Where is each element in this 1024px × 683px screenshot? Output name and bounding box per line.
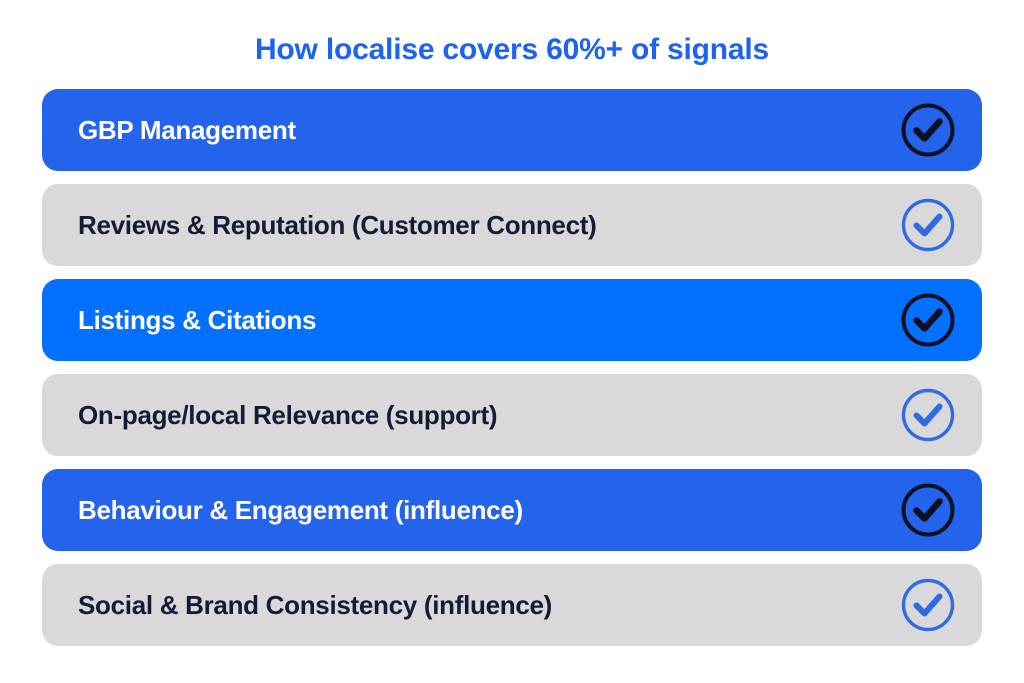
check-circle-icon (900, 197, 956, 253)
list-item-label: Reviews & Reputation (Customer Connect) (78, 212, 596, 238)
check-circle-icon (900, 387, 956, 443)
list-item[interactable]: GBP Management (42, 89, 982, 171)
list-item-label: Social & Brand Consistency (influence) (78, 592, 552, 618)
check-circle-icon (900, 102, 956, 158)
page-title: How localise covers 60%+ of signals (0, 0, 1024, 67)
infographic-page: How localise covers 60%+ of signals GBP … (0, 0, 1024, 683)
list-item[interactable]: Reviews & Reputation (Customer Connect) (42, 184, 982, 266)
list-item[interactable]: Social & Brand Consistency (influence) (42, 564, 982, 646)
list-item-label: Listings & Citations (78, 307, 316, 333)
check-circle-icon (900, 482, 956, 538)
check-circle-icon (900, 577, 956, 633)
list-item-label: GBP Management (78, 117, 296, 143)
list-item[interactable]: Listings & Citations (42, 279, 982, 361)
signal-coverage-checklist: GBP Management Reviews & Reputation (Cus… (0, 89, 1024, 646)
check-circle-icon (900, 292, 956, 348)
list-item[interactable]: Behaviour & Engagement (influence) (42, 469, 982, 551)
list-item-label: On-page/local Relevance (support) (78, 402, 497, 428)
list-item[interactable]: On-page/local Relevance (support) (42, 374, 982, 456)
list-item-label: Behaviour & Engagement (influence) (78, 497, 523, 523)
